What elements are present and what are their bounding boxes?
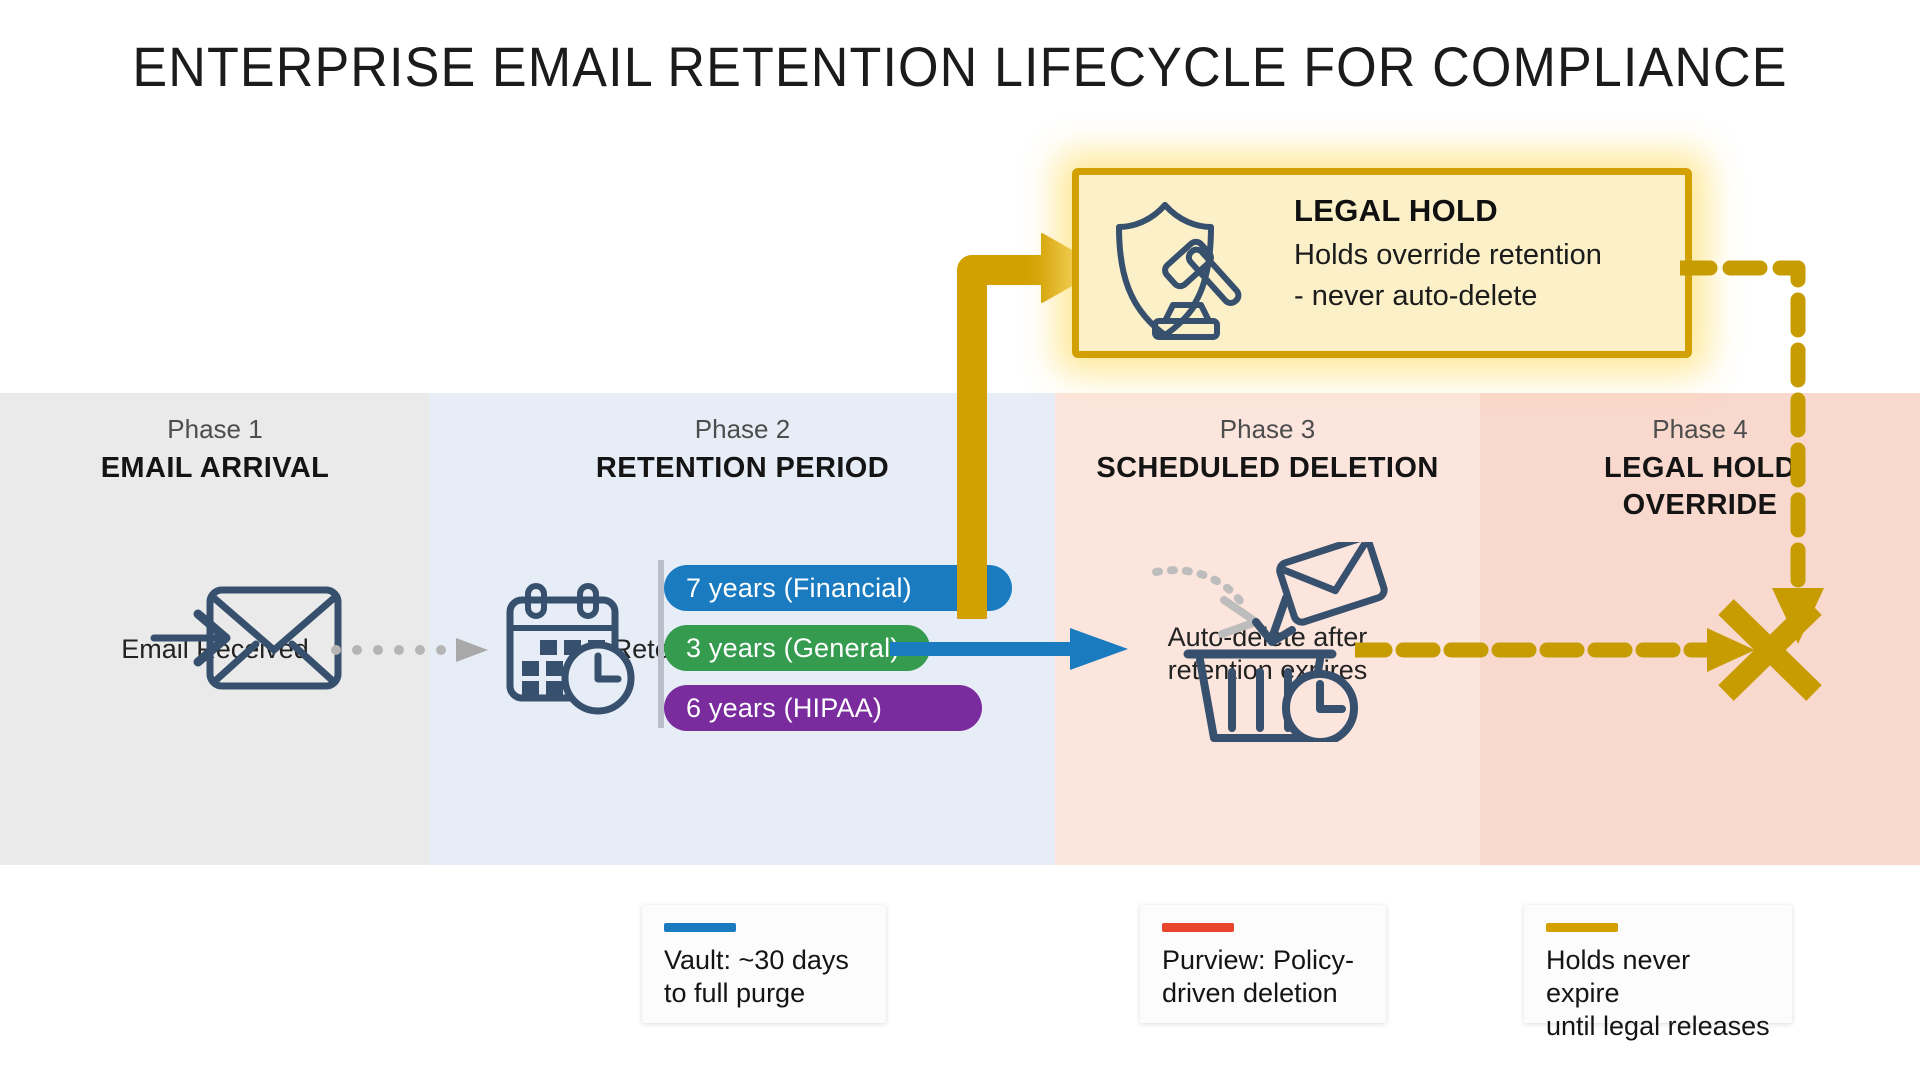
retention-bar-financial-label: 7 years (Financial) bbox=[686, 573, 912, 604]
legend-purview-line2: driven deletion bbox=[1162, 977, 1364, 1010]
phase-1-number: Phase 1 bbox=[0, 414, 430, 445]
legend-vault-line1: Vault: ~30 days bbox=[664, 944, 864, 977]
legend-swatch-vault bbox=[664, 923, 736, 932]
legal-hold-body: Holds override retention - never auto-de… bbox=[1294, 235, 1684, 317]
retention-bar-general-label: 3 years (General) bbox=[686, 633, 899, 664]
legend-swatch-purview bbox=[1162, 923, 1234, 932]
legal-hold-text-block: LEGAL HOLD Holds override retention - ne… bbox=[1294, 193, 1684, 317]
legend-vault-line2: to full purge bbox=[664, 977, 864, 1010]
retention-bar-hipaa-label: 6 years (HIPAA) bbox=[686, 693, 882, 724]
legal-hold-body-line2: - never auto-delete bbox=[1294, 276, 1684, 317]
legal-hold-body-line1: Holds override retention bbox=[1294, 235, 1684, 276]
legal-hold-callout[interactable]: LEGAL HOLD Holds override retention - ne… bbox=[1072, 168, 1692, 358]
diagram-canvas: ENTERPRISE EMAIL RETENTION LIFECYCLE FOR… bbox=[0, 0, 1920, 1072]
envelope-incoming-icon bbox=[150, 578, 350, 698]
x-mark-icon bbox=[1710, 595, 1830, 705]
legend-text-purview: Purview: Policy- driven deletion bbox=[1162, 944, 1364, 1010]
page-title: ENTERPRISE EMAIL RETENTION LIFECYCLE FOR… bbox=[67, 34, 1853, 99]
flow-arrow-phase1-to-phase2-icon bbox=[330, 638, 490, 662]
legend-purview-line1: Purview: Policy- bbox=[1162, 944, 1364, 977]
legend-card-vault: Vault: ~30 days to full purge bbox=[642, 905, 886, 1023]
legend-text-vault: Vault: ~30 days to full purge bbox=[664, 944, 864, 1010]
flow-arrow-retention-to-deletion-icon bbox=[890, 628, 1130, 670]
legend-swatch-holds bbox=[1546, 923, 1618, 932]
legend-text-holds: Holds never expire until legal releases bbox=[1546, 944, 1770, 1043]
retention-bar-hipaa[interactable]: 6 years (HIPAA) bbox=[664, 685, 982, 731]
legal-hold-title: LEGAL HOLD bbox=[1294, 193, 1684, 229]
shield-gavel-icon bbox=[1107, 197, 1257, 345]
legend-card-purview: Purview: Policy- driven deletion bbox=[1140, 905, 1386, 1023]
phase-1-name: EMAIL ARRIVAL bbox=[0, 450, 430, 487]
legend-holds-line2: until legal releases bbox=[1546, 1010, 1770, 1043]
calendar-clock-icon bbox=[500, 578, 640, 718]
legend-holds-line1: Holds never expire bbox=[1546, 944, 1770, 1010]
legend-card-holds: Holds never expire until legal releases bbox=[1524, 905, 1792, 1023]
